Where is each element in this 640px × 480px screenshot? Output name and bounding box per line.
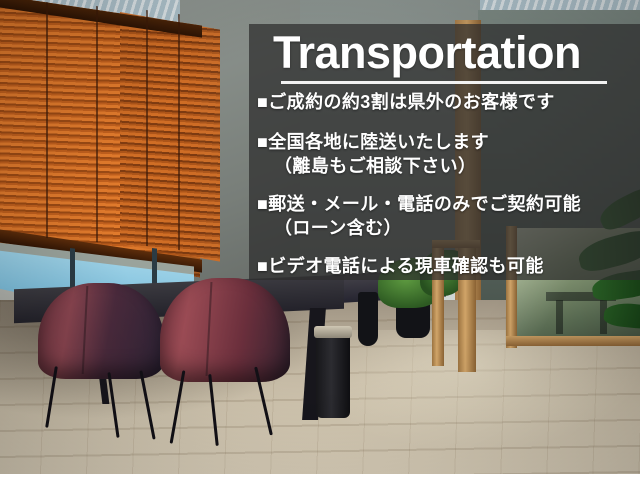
list-item: ■ご成約の約3割は県外のお客様です xyxy=(257,90,640,114)
trash-bin xyxy=(316,330,350,418)
plant-pot xyxy=(358,292,378,346)
bullet-line: ■郵送・メール・電話のみでご契約可能 xyxy=(257,192,640,216)
blinds-cord xyxy=(46,2,48,238)
lounge-chair xyxy=(38,283,164,379)
bullet-subline: （離島もご相談下さい） xyxy=(257,154,640,178)
bottom-white-strip xyxy=(0,474,640,480)
glass-frame-sill xyxy=(506,336,640,346)
lounge-chair xyxy=(160,278,290,382)
screenshot-root: Transportation ■ご成約の約3割は県外のお客様です ■全国各地に陸… xyxy=(0,0,640,480)
blinds-cord xyxy=(178,14,180,250)
text-overlay-panel: Transportation ■ご成約の約3割は県外のお客様です ■全国各地に陸… xyxy=(249,24,640,280)
bullet-line: ■ビデオ電話による現車確認も可能 xyxy=(257,254,640,278)
title-divider xyxy=(281,81,607,84)
wooden-venetian-blinds-shadowed xyxy=(120,12,220,262)
list-item: ■郵送・メール・電話のみでご契約可能 （ローン含む） xyxy=(257,192,640,240)
bullet-list: ■ご成約の約3割は県外のお客様です ■全国各地に陸送いたします （離島もご相談下… xyxy=(257,90,640,292)
list-item: ■全国各地に陸送いたします （離島もご相談下さい） xyxy=(257,130,640,178)
bullet-line: ■全国各地に陸送いたします xyxy=(257,130,640,154)
blinds-cord xyxy=(96,6,98,242)
trash-bin-lid xyxy=(314,326,352,338)
list-item: ■ビデオ電話による現車確認も可能 xyxy=(257,254,640,278)
bullet-subline: （ローン含む） xyxy=(257,216,640,240)
bullet-line: ■ご成約の約3割は県外のお客様です xyxy=(257,90,640,114)
overlay-title: Transportation xyxy=(249,27,605,79)
blinds-cord xyxy=(146,10,148,246)
